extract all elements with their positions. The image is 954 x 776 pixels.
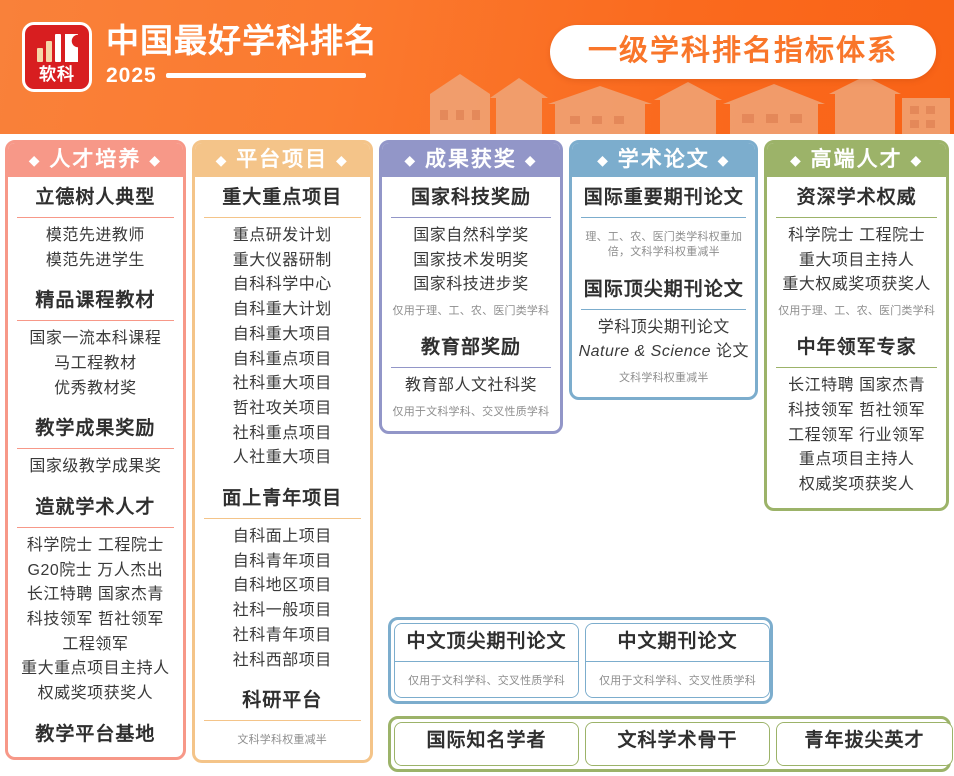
section-title: 成果获奖 (425, 148, 517, 171)
indicator-items: 国家自然科学奖国家技术发明奖国家科技进步奖仅用于理、工、农、医门类学科 (385, 218, 558, 328)
indicator-note: 仅用于理、工、农、医门类学科 (778, 304, 935, 319)
indicator-item: 社科青年项目 (233, 625, 332, 648)
indicator-item: 自科面上项目 (233, 526, 332, 549)
indicator-items: 仅用于文科学科、交叉性质学科 (395, 662, 578, 697)
logo-label: 软科 (39, 66, 75, 83)
indicator-item: 重大重点项目主持人 (21, 658, 170, 681)
section-header-papers[interactable]: ◆ 学术论文 ◆ (572, 143, 755, 177)
indicator-item: 模范先进学生 (46, 250, 145, 273)
indicator-title[interactable]: 立德树人典型 (11, 180, 180, 217)
indicator-title[interactable]: 教学平台基地 (11, 717, 180, 754)
indicator-items: 科学院士 工程院士重大项目主持人重大权威奖项获奖人仅用于理、工、农、医门类学科 (770, 218, 943, 328)
indicator-title[interactable]: 青年拔尖英才 (777, 723, 952, 760)
indicator-block: 教学成果奖励国家级教学成果奖 (8, 411, 183, 487)
indicator-item: 重大权威奖项获奖人 (782, 274, 931, 297)
indicator-title[interactable]: 国家科技奖励 (385, 180, 558, 217)
indicator-items: 科学院士 工程院士G20院士 万人杰出长江特聘 国家杰青科技领军 哲社领军工程领… (11, 528, 180, 714)
diamond-icon: ◆ (597, 152, 610, 168)
indicator-title[interactable]: 造就学术人才 (11, 490, 180, 527)
indicator-title[interactable]: 科研平台 (198, 683, 367, 720)
indicator-block: 立德树人典型模范先进教师模范先进学生 (8, 180, 183, 280)
column-platform: ◆ 平台项目 ◆重大重点项目重点研发计划重大仪器研制自科科学中心自科重大计划自科… (192, 140, 373, 772)
section-header-platform[interactable]: ◆ 平台项目 ◆ (195, 143, 370, 177)
indicator-item: 人社重大项目 (233, 447, 332, 470)
section-platform: ◆ 平台项目 ◆重大重点项目重点研发计划重大仪器研制自科科学中心自科重大计划自科… (192, 140, 373, 763)
indicator-block: 国际重要期刊论文理、工、农、医门类学科权重加倍，文科学科权重减半 (572, 180, 755, 269)
indicator-block: 教育部奖励教育部人文社科奖仅用于文科学科、交叉性质学科 (382, 330, 561, 428)
indicator-title[interactable]: 面上青年项目 (198, 481, 367, 518)
indicator-item: 社科西部项目 (233, 650, 332, 673)
section-papers: ◆ 学术论文 ◆国际重要期刊论文理、工、农、医门类学科权重加倍，文科学科权重减半… (569, 140, 758, 400)
indicator-block: 青年拔尖英才国家优青 海外青年青年拔尖 青年长江青年权威奖项获奖人青年托举 博后… (776, 722, 953, 766)
brand-lockup: 软科 中国最好学科排名 2025 (22, 22, 378, 92)
indicator-item: 国家级教学成果奖 (29, 456, 161, 479)
indicator-items: 模范先进教师模范先进学生 (11, 218, 180, 280)
indicator-block: 重大重点项目重点研发计划重大仪器研制自科科学中心自科重大计划自科重大项目自科重点… (195, 180, 370, 478)
section-header-talent[interactable]: ◆ 人才培养 ◆ (8, 143, 183, 177)
indicator-title[interactable]: 资深学术权威 (770, 180, 943, 217)
indicator-board: ◆ 人才培养 ◆立德树人典型模范先进教师模范先进学生精品课程教材国家一流本科课程… (0, 134, 954, 776)
indicator-item: 教育部人文社科奖 (405, 375, 537, 398)
column-elite: ◆ 高端人才 ◆资深学术权威科学院士 工程院士重大项目主持人重大权威奖项获奖人仅… (764, 140, 949, 772)
indicator-block: 科研平台文科学科权重减半 (195, 683, 370, 756)
section-elite: ◆ 高端人才 ◆资深学术权威科学院士 工程院士重大项目主持人重大权威奖项获奖人仅… (764, 140, 949, 511)
indicator-item: 国家自然科学奖 (413, 225, 529, 248)
indicator-item: 自科地区项目 (233, 575, 332, 598)
span-section-papers: 中文顶尖期刊论文仅用于文科学科、交叉性质学科中文期刊论文仅用于文科学科、交叉性质… (388, 617, 773, 704)
indicator-items: 文科学科权重减半 (198, 721, 367, 756)
indicator-items: 教育部人文社科奖仅用于文科学科、交叉性质学科 (385, 368, 558, 428)
indicator-item: 科学院士 工程院士 (788, 225, 925, 248)
indicator-block: 中年领军专家长江特聘 国家杰青科技领军 哲社领军工程领军 行业领军重点项目主持人… (767, 330, 946, 504)
indicator-items: 文科重大重点项目主持人文科权威奖项获奖人仅用于文科学科、交叉性质学科 (586, 760, 769, 766)
indicator-item: 模范先进教师 (46, 225, 145, 248)
indicator-items: 自科面上项目自科青年项目自科地区项目社科一般项目社科青年项目社科西部项目 (198, 519, 367, 680)
page-title: 一级学科排名指标体系 (588, 36, 898, 68)
brand-title: 中国最好学科排名 (106, 24, 378, 59)
indicator-block: 文科学术骨干文科重大重点项目主持人文科权威奖项获奖人仅用于文科学科、交叉性质学科 (585, 722, 770, 766)
section-header-awards[interactable]: ◆ 成果获奖 ◆ (382, 143, 561, 177)
indicator-item: G20院士 万人杰出 (28, 560, 164, 583)
brand-year: 2025 (106, 64, 157, 88)
indicator-item: 重点项目主持人 (799, 449, 915, 472)
indicator-item: 权威奖项获奖人 (799, 474, 915, 497)
diamond-icon: ◆ (404, 152, 417, 168)
indicator-note: 理、工、农、医门类学科权重加倍，文科学科权重减半 (579, 230, 748, 261)
indicator-title[interactable]: 国际顶尖期刊论文 (575, 272, 752, 309)
section-title: 平台项目 (236, 148, 328, 171)
section-title: 高端人才 (811, 148, 903, 171)
indicator-item: 自科重点项目 (233, 349, 332, 372)
indicator-note: 文科学科权重减半 (237, 733, 327, 748)
indicator-items: 重点研发计划重大仪器研制自科科学中心自科重大计划自科重大项目自科重点项目社科重大… (198, 218, 367, 478)
indicator-item: Nature & Science 论文 (579, 341, 749, 364)
section-header-elite[interactable]: ◆ 高端人才 ◆ (767, 143, 946, 177)
indicator-block: 国际知名学者科睿唯安高被引爱思唯尔高被引国际重要期刊负责人文科学科权重减半 (394, 722, 579, 766)
indicator-item: 科学院士 工程院士 (27, 535, 164, 558)
indicator-block: 精品课程教材国家一流本科课程马工程教材优秀教材奖 (8, 283, 183, 408)
indicator-item: 重大仪器研制 (233, 250, 332, 273)
indicator-title[interactable]: 教育部奖励 (385, 330, 558, 367)
indicator-title[interactable]: 精品课程教材 (11, 283, 180, 320)
diamond-icon: ◆ (790, 152, 803, 168)
indicator-items: 国家优青 海外青年青年拔尖 青年长江青年权威奖项获奖人青年托举 博后创新行业青年 (777, 760, 952, 766)
indicator-item: 长江特聘 国家杰青 (788, 375, 925, 398)
page-header: 软科 中国最好学科排名 2025 一级学科排名指标体系 (0, 0, 954, 134)
indicator-item: 长江特聘 国家杰青 (27, 584, 164, 607)
section-title: 人才培养 (49, 148, 141, 171)
brand-rule (166, 73, 366, 78)
indicator-item: 科技领军 哲社领军 (27, 609, 164, 632)
indicator-item: 重大项目主持人 (799, 250, 915, 273)
diamond-icon: ◆ (910, 152, 923, 168)
indicator-block: 资深学术权威科学院士 工程院士重大项目主持人重大权威奖项获奖人仅用于理、工、农、… (767, 180, 946, 327)
indicator-item: 自科重大项目 (233, 324, 332, 347)
indicator-item: 国家一流本科课程 (29, 328, 161, 351)
indicator-note: 仅用于文科学科、交叉性质学科 (393, 405, 550, 420)
indicator-items: 学科顶尖期刊论文Nature & Science 论文文科学科权重减半 (575, 310, 752, 395)
indicator-block: 国家科技奖励国家自然科学奖国家技术发明奖国家科技进步奖仅用于理、工、农、医门类学… (382, 180, 561, 327)
page-title-pill: 一级学科排名指标体系 (550, 25, 936, 79)
indicator-item: 社科重大项目 (233, 373, 332, 396)
indicator-items: 仅用于文科学科、交叉性质学科 (586, 662, 769, 697)
column-talent: ◆ 人才培养 ◆立德树人典型模范先进教师模范先进学生精品课程教材国家一流本科课程… (5, 140, 186, 772)
indicator-items: 长江特聘 国家杰青科技领军 哲社领军工程领军 行业领军重点项目主持人权威奖项获奖… (770, 368, 943, 505)
indicator-block: 教学平台基地 (8, 717, 183, 754)
diamond-icon: ◆ (29, 152, 42, 168)
indicator-item: 学科顶尖期刊论文 (598, 317, 730, 340)
indicator-block: 国际顶尖期刊论文学科顶尖期刊论文Nature & Science 论文文科学科权… (572, 272, 755, 395)
indicator-title[interactable]: 国际知名学者 (395, 723, 578, 760)
indicator-title[interactable]: 中年领军专家 (770, 330, 943, 367)
indicator-items: 国家级教学成果奖 (11, 449, 180, 487)
indicator-item: 工程领军 (62, 634, 128, 657)
indicator-item: 自科科学中心 (233, 274, 332, 297)
indicator-items: 科睿唯安高被引爱思唯尔高被引国际重要期刊负责人文科学科权重减半 (395, 760, 578, 766)
indicator-block: 面上青年项目自科面上项目自科青年项目自科地区项目社科一般项目社科青年项目社科西部… (195, 481, 370, 680)
indicator-note: 仅用于文科学科、交叉性质学科 (408, 674, 565, 689)
diamond-icon: ◆ (525, 152, 538, 168)
indicator-note: 文科学科权重减半 (619, 371, 709, 386)
indicator-title[interactable]: 中文顶尖期刊论文 (395, 624, 578, 661)
logo-bars-icon (37, 34, 78, 62)
indicator-items: 国家一流本科课程马工程教材优秀教材奖 (11, 321, 180, 408)
indicator-note: 仅用于理、工、农、医门类学科 (393, 304, 550, 319)
diamond-icon: ◆ (216, 152, 229, 168)
indicator-item: 国家技术发明奖 (413, 250, 529, 273)
indicator-title[interactable]: 文科学术骨干 (586, 723, 769, 760)
diamond-icon: ◆ (718, 152, 731, 168)
indicator-item: 重点研发计划 (233, 225, 332, 248)
indicator-item: 科技领军 哲社领军 (788, 400, 925, 423)
diamond-icon: ◆ (149, 152, 162, 168)
indicator-item: 自科重大计划 (233, 299, 332, 322)
indicator-item: 工程领军 行业领军 (788, 425, 925, 448)
indicator-item: 自科青年项目 (233, 551, 332, 574)
indicator-item: 权威奖项获奖人 (38, 683, 154, 706)
indicator-title[interactable]: 国际重要期刊论文 (575, 180, 752, 217)
indicator-block: 中文期刊论文仅用于文科学科、交叉性质学科 (585, 623, 770, 698)
span-section-elite: 国际知名学者科睿唯安高被引爱思唯尔高被引国际重要期刊负责人文科学科权重减半文科学… (388, 716, 951, 772)
indicator-title[interactable]: 中文期刊论文 (586, 624, 769, 661)
indicator-item: 优秀教材奖 (54, 378, 137, 401)
indicator-title[interactable]: 重大重点项目 (198, 180, 367, 217)
indicator-block: 中文顶尖期刊论文仅用于文科学科、交叉性质学科 (394, 623, 579, 698)
diamond-icon: ◆ (336, 152, 349, 168)
indicator-note: 仅用于文科学科、交叉性质学科 (599, 674, 756, 689)
indicator-item: 马工程教材 (54, 353, 137, 376)
indicator-item: 社科一般项目 (233, 600, 332, 623)
ruanke-logo: 软科 (22, 22, 92, 92)
section-awards: ◆ 成果获奖 ◆国家科技奖励国家自然科学奖国家技术发明奖国家科技进步奖仅用于理、… (379, 140, 564, 434)
indicator-item: 哲社攻关项目 (233, 398, 332, 421)
indicator-title[interactable]: 教学成果奖励 (11, 411, 180, 448)
indicator-items: 理、工、农、医门类学科权重加倍，文科学科权重减半 (575, 218, 752, 269)
indicator-item: 社科重点项目 (233, 423, 332, 446)
indicator-item: 国家科技进步奖 (413, 274, 529, 297)
indicator-block: 造就学术人才科学院士 工程院士G20院士 万人杰出长江特聘 国家杰青科技领军 哲… (8, 490, 183, 714)
section-talent: ◆ 人才培养 ◆立德树人典型模范先进教师模范先进学生精品课程教材国家一流本科课程… (5, 140, 186, 760)
section-title: 学术论文 (618, 148, 710, 171)
